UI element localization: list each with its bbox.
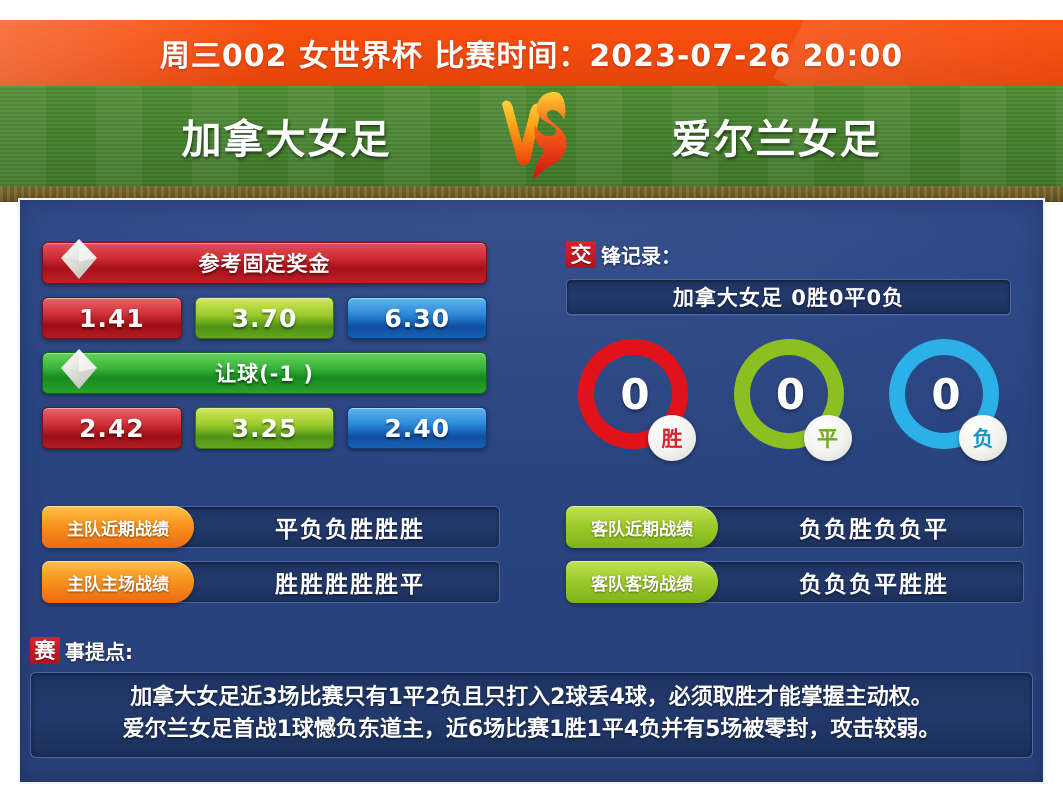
h2h-summary-text: 加拿大女足 0胜0平0负 (673, 282, 904, 312)
diamond-icon (59, 237, 99, 281)
handicap-title: 让球(-1 ) (215, 358, 314, 388)
diamond-icon (59, 347, 99, 391)
page-title: 周三002 女世界杯 比赛时间：2023-07-26 20:00 (160, 31, 903, 75)
pitch-band: 加拿大女足 爱尔兰女足 (0, 86, 1063, 186)
away-recent-form-value: 负负胜负负平 (799, 510, 949, 544)
away-venue-form-bar: 负负负平胜胜 (684, 561, 1024, 603)
fixed-odds-header: 参考固定奖金 (42, 242, 487, 284)
away-recent-form-label: 客队近期战绩 (566, 506, 718, 548)
handicap-header: 让球(-1 ) (42, 352, 487, 394)
analysis-panel: 赛 事提点: 加拿大女足近3场比赛只有1平2负且只打入2球丢4球，必须取胜才能掌… (30, 636, 1033, 758)
home-venue-form-label: 主队主场战绩 (42, 561, 194, 603)
ring-draw-label: 平 (804, 415, 852, 461)
h2h-rings: 0 胜 0 平 0 负 (566, 333, 1011, 455)
header-bar: 周三002 女世界杯 比赛时间：2023-07-26 20:00 (0, 20, 1063, 86)
away-venue-form-value: 负负负平胜胜 (799, 565, 949, 599)
handicap-odd-home[interactable]: 2.42 (42, 407, 182, 449)
fixed-odd-away[interactable]: 6.30 (347, 297, 487, 339)
away-recent-form-row: 负负胜负负平 客队近期战绩 (566, 506, 1024, 548)
home-venue-form-bar: 胜胜胜胜胜平 (160, 561, 500, 603)
home-recent-form-value: 平负负胜胜胜 (275, 510, 425, 544)
fixed-odds-row: 1.41 3.70 6.30 (42, 297, 487, 339)
home-team-name: 加拿大女足 (107, 107, 467, 165)
away-venue-form-row: 负负负平胜胜 客队客场战绩 (566, 561, 1024, 603)
head-to-head-title: 交 锋记录： (566, 240, 1011, 268)
handicap-odd-draw[interactable]: 3.25 (195, 407, 335, 449)
fixed-odd-home[interactable]: 1.41 (42, 297, 182, 339)
ring-win: 0 胜 (572, 333, 694, 455)
ring-loss: 0 负 (883, 333, 1005, 455)
head-to-head-panel: 交 锋记录： 加拿大女足 0胜0平0负 0 胜 0 (566, 240, 1011, 455)
away-recent-form-bar: 负负胜负负平 (684, 506, 1024, 548)
ring-draw: 0 平 (728, 333, 850, 455)
h2h-summary-box: 加拿大女足 0胜0平0负 (566, 279, 1011, 315)
home-venue-form-value: 胜胜胜胜胜平 (275, 565, 425, 599)
h2h-title-text: 锋记录： (601, 240, 681, 269)
odds-panel: 参考固定奖金 1.41 3.70 6.30 让球(-1 ) 2.42 3.25 … (42, 242, 487, 462)
ring-loss-label: 负 (959, 415, 1007, 461)
analysis-line: 加拿大女足近3场比赛只有1平2负且只打入2球丢4球，必须取胜才能掌握主动权。 (45, 682, 1018, 714)
away-team-name: 爱尔兰女足 (597, 107, 957, 165)
home-recent-form-bar: 平负负胜胜胜 (160, 506, 500, 548)
fixed-odds-title: 参考固定奖金 (199, 248, 331, 278)
away-form-block: 负负胜负负平 客队近期战绩 负负负平胜胜 客队客场战绩 (566, 506, 1024, 616)
analysis-line: 爱尔兰女足首战1球憾负东道主，近6场比赛1胜1平4负并有5场被零封，攻击较弱。 (45, 714, 1018, 746)
home-recent-form-row: 平负负胜胜胜 主队近期战绩 (42, 506, 500, 548)
analysis-text-box: 加拿大女足近3场比赛只有1平2负且只打入2球丢4球，必须取胜才能掌握主动权。 爱… (30, 672, 1033, 758)
away-venue-form-label: 客队客场战绩 (566, 561, 718, 603)
vs-icon (467, 88, 597, 184)
handicap-odd-away[interactable]: 2.40 (347, 407, 487, 449)
analysis-badge-char: 赛 (30, 637, 60, 664)
analysis-title-text: 事提点: (65, 636, 133, 665)
handicap-odds-row: 2.42 3.25 2.40 (42, 407, 487, 449)
home-recent-form-label: 主队近期战绩 (42, 506, 194, 548)
home-form-block: 平负负胜胜胜 主队近期战绩 胜胜胜胜胜平 主队主场战绩 (42, 506, 500, 616)
analysis-title: 赛 事提点: (30, 636, 1033, 664)
ring-win-label: 胜 (648, 415, 696, 461)
match-preview-page: 周三002 女世界杯 比赛时间：2023-07-26 20:00 加拿大女足 (0, 0, 1063, 800)
fixed-odd-draw[interactable]: 3.70 (195, 297, 335, 339)
h2h-badge-char: 交 (566, 241, 596, 268)
home-venue-form-row: 胜胜胜胜胜平 主队主场战绩 (42, 561, 500, 603)
